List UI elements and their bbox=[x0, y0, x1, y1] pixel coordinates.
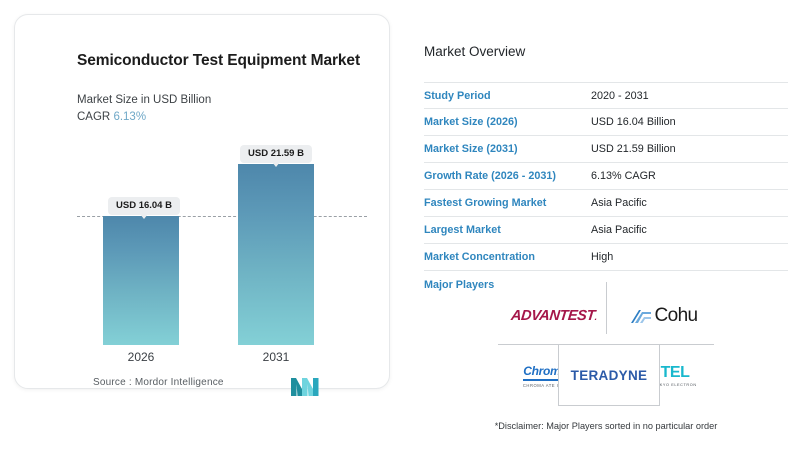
source-text: Source : Mordor Intelligence bbox=[93, 377, 224, 388]
row-key: Growth Rate (2026 - 2031) bbox=[424, 170, 591, 182]
advantest-wordmark: ADVANTEST bbox=[510, 308, 596, 324]
cohu-wordmark: Cohu bbox=[654, 305, 697, 327]
logo-cohu: Cohu bbox=[614, 296, 714, 336]
bar-2031 bbox=[238, 164, 314, 345]
table-row: Fastest Growing Market Asia Pacific bbox=[424, 190, 788, 217]
grid-divider-vertical-top bbox=[606, 282, 607, 334]
row-value: USD 21.59 Billion bbox=[591, 143, 676, 155]
row-value: Asia Pacific bbox=[591, 197, 647, 209]
report-infographic: Semiconductor Test Equipment Market Mark… bbox=[0, 0, 800, 459]
disclaimer-text: *Disclaimer: Major Players sorted in no … bbox=[424, 421, 788, 431]
row-value: High bbox=[591, 251, 613, 263]
major-players-logo-grid: ADVANTEST. Cohu Chroma CHROMA ATE INC. T… bbox=[498, 292, 714, 404]
table-row: Growth Rate (2026 - 2031) 6.13% CAGR bbox=[424, 163, 788, 190]
advantest-dot: . bbox=[594, 312, 597, 322]
x-tick-2031: 2031 bbox=[231, 350, 321, 364]
table-row: Market Size (2031) USD 21.59 Billion bbox=[424, 136, 788, 163]
table-row: Largest Market Asia Pacific bbox=[424, 217, 788, 244]
logo-advantest: ADVANTEST. bbox=[504, 296, 604, 336]
row-key: Fastest Growing Market bbox=[424, 197, 591, 209]
table-row: Market Size (2026) USD 16.04 Billion bbox=[424, 109, 788, 136]
market-overview-heading: Market Overview bbox=[424, 44, 525, 59]
row-key: Study Period bbox=[424, 90, 591, 102]
table-row: Market Concentration High bbox=[424, 244, 788, 271]
bar-chart-plot: USD 16.04 B USD 21.59 B 2026 2031 bbox=[15, 15, 391, 390]
bar-2026 bbox=[103, 216, 179, 345]
bar-label-2026: USD 16.04 B bbox=[108, 197, 180, 215]
row-value: Asia Pacific bbox=[591, 224, 647, 236]
logo-teradyne: TERADYNE bbox=[558, 344, 660, 406]
row-key: Market Size (2026) bbox=[424, 116, 591, 128]
teradyne-wordmark: TERADYNE bbox=[571, 368, 648, 383]
row-value: USD 16.04 Billion bbox=[591, 116, 676, 128]
cohu-mark-icon bbox=[630, 307, 652, 325]
major-players-label: Major Players bbox=[424, 279, 591, 291]
bar-label-2031: USD 21.59 B bbox=[240, 145, 312, 163]
chart-card: Semiconductor Test Equipment Market Mark… bbox=[14, 14, 390, 389]
row-key: Largest Market bbox=[424, 224, 591, 236]
mordor-intelligence-logo bbox=[291, 376, 319, 396]
row-value: 2020 - 2031 bbox=[591, 90, 649, 102]
market-overview-table: Study Period 2020 - 2031 Market Size (20… bbox=[424, 82, 788, 298]
row-value: 6.13% CAGR bbox=[591, 170, 656, 182]
x-tick-2026: 2026 bbox=[96, 350, 186, 364]
row-key: Market Size (2031) bbox=[424, 143, 591, 155]
row-key: Market Concentration bbox=[424, 251, 591, 263]
table-row: Study Period 2020 - 2031 bbox=[424, 82, 788, 109]
